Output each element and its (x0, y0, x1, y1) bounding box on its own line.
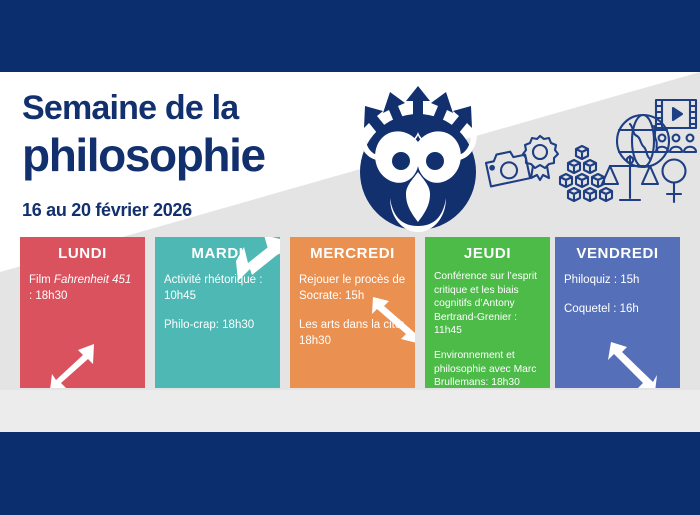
arrow-up-right-icon (50, 342, 98, 388)
arrow-up-left-icon (607, 342, 657, 388)
event-item: Philo-crap: 18h30 (164, 317, 271, 333)
event-item: Activité rhétorique : 10h45 (164, 272, 271, 304)
day-card-mardi[interactable]: MARDI Activité rhétorique : 10h45 Philo-… (155, 237, 280, 388)
owl-logo (343, 86, 493, 234)
event-item: Coquetel : 16h (564, 301, 671, 317)
event-item: Film Fahrenheit 451 : 18h30 (29, 272, 136, 304)
page-title: Semaine de la philosophie (22, 88, 265, 180)
day-title-mercredi: MERCREDI (290, 245, 415, 262)
day-events-mardi: Activité rhétorique : 10h45 Philo-crap: … (164, 272, 271, 333)
event-item: Philoquiz : 15h (564, 272, 671, 288)
day-card-vendredi[interactable]: VENDREDI Philoquiz : 15h Coquetel : 16h (555, 237, 680, 388)
day-card-mercredi[interactable]: MERCREDI Rejouer le procès de Socrate: 1… (290, 237, 415, 388)
week-schedule: LUNDI Film Fahrenheit 451 : 18h30 MARDI … (0, 237, 700, 389)
event-item: Les arts dans la cité: 18h30 (299, 317, 406, 349)
day-title-lundi: LUNDI (20, 245, 145, 262)
day-events-vendredi: Philoquiz : 15h Coquetel : 16h (564, 272, 671, 317)
blocks-pyramid-icon (560, 146, 612, 201)
owl-pupil-right (426, 152, 444, 170)
day-card-jeudi[interactable]: JEUDI Conférence sur l’esprit critique e… (425, 237, 550, 388)
decorative-icon-cluster (478, 96, 700, 208)
day-title-vendredi: VENDREDI (555, 245, 680, 262)
top-navy-band (0, 0, 700, 72)
day-title-jeudi: JEUDI (425, 245, 550, 262)
day-events-lundi: Film Fahrenheit 451 : 18h30 (29, 272, 136, 304)
day-events-mercredi: Rejouer le procès de Socrate: 15h Les ar… (299, 272, 406, 349)
grey-baseline-strip (0, 390, 700, 432)
day-card-lundi[interactable]: LUNDI Film Fahrenheit 451 : 18h30 (20, 237, 145, 388)
bottom-navy-band (0, 432, 700, 515)
title-line-2: philosophie (22, 130, 265, 180)
title-line-1: Semaine de la (22, 88, 265, 128)
day-events-jeudi: Conférence sur l’esprit critique et les … (434, 270, 541, 388)
venus-symbol-icon (663, 160, 686, 203)
event-item: Conférence sur l’esprit critique et les … (434, 270, 541, 338)
poster-root: Semaine de la philosophie 16 au 20 févri… (0, 0, 700, 515)
event-item: Environnement et philosophie avec Marc B… (434, 349, 541, 388)
date-range: 16 au 20 février 2026 (22, 200, 192, 221)
owl-pupil-left (392, 152, 410, 170)
event-item: Rejouer le procès de Socrate: 15h (299, 272, 406, 304)
day-title-mardi: MARDI (155, 245, 280, 262)
cinema-screen-audience-icon (656, 100, 696, 152)
